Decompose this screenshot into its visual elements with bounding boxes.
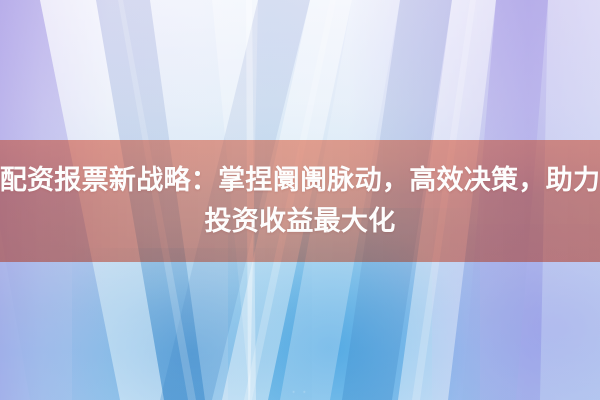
headline-line-2: 投资收益最大化 — [204, 201, 395, 242]
page-title: 配资报票新战略：掌捏阛阓脉动，高效决策，助力 投资收益最大化 — [0, 140, 600, 262]
promo-banner: 配资报票新战略：掌捏阛阓脉动，高效决策，助力 投资收益最大化 · · — [0, 0, 600, 400]
watermark-text: · · — [0, 386, 600, 398]
headline-line-1: 配资报票新战略：掌捏阛阓脉动，高效决策，助力 — [0, 160, 600, 201]
